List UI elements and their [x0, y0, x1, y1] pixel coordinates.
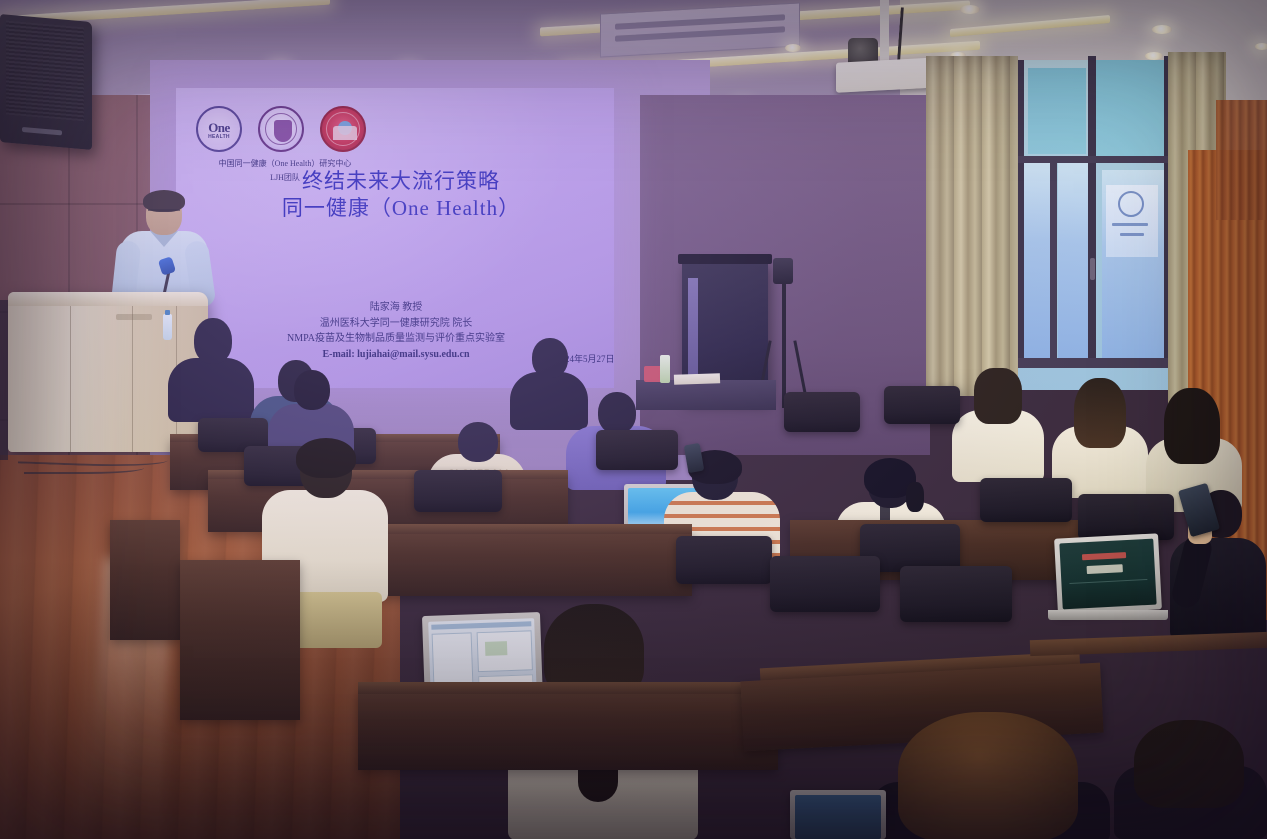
window-glass-upper	[1096, 60, 1170, 156]
wall-speaker	[0, 14, 92, 150]
water-bottle[interactable]	[660, 355, 670, 383]
tripod-camera	[773, 258, 793, 284]
attendee-cream-top	[952, 370, 1044, 482]
attendee-foreground-brown-hair	[870, 712, 1110, 839]
chair-back[interactable]	[770, 556, 880, 612]
ceiling-downlight	[960, 5, 980, 14]
wood-slat-wall-panel	[1216, 100, 1267, 220]
window-mullion	[1050, 162, 1057, 365]
ceiling-downlight	[1145, 52, 1163, 60]
window-glass-lower[interactable]	[1022, 162, 1052, 358]
laptop-dark-ui[interactable]	[1054, 533, 1162, 614]
attendee-silhouette-1	[168, 318, 254, 422]
one-health-logo-icon: One HEALTH	[196, 106, 242, 152]
slide-presenter-name: 陆家海 教授	[216, 300, 576, 316]
ponytail	[906, 482, 924, 512]
window-glass-upper	[1028, 68, 1086, 154]
sun-yat-sen-university-seal-icon	[320, 106, 366, 152]
window-frame	[1088, 56, 1096, 368]
window-curtain-left	[926, 56, 1018, 396]
window-sill	[1018, 358, 1171, 368]
chair-back[interactable]	[980, 478, 1072, 522]
window-frame	[1018, 60, 1024, 365]
slide-title-line2: 同一健康（One Health）	[236, 194, 566, 222]
glasses-icon	[148, 209, 180, 216]
chair-back[interactable]	[884, 386, 960, 424]
slide-title-line1: 终结未来大流行策略	[236, 168, 566, 194]
bench-desk-top	[358, 682, 778, 694]
bench-desk-side	[180, 560, 300, 720]
window-handle[interactable]	[1090, 258, 1095, 280]
one-health-logo-subtext: HEALTH	[198, 134, 240, 140]
ceiling-downlight	[785, 44, 801, 52]
window-glass-lower[interactable]	[1058, 162, 1090, 362]
floor-cable	[0, 300, 8, 460]
attendee-foreground-right	[1114, 726, 1267, 839]
slide-title: 终结未来大流行策略 同一健康（One Health）	[236, 168, 566, 223]
chair-back[interactable]	[900, 566, 1012, 622]
ceiling-projector	[836, 57, 940, 92]
bottle-cap	[165, 310, 170, 315]
lecture-hall-photo: One HEALTH 中国同一健康（One Health）研究中心 LJH团队 …	[0, 0, 1267, 839]
tripod-stand	[782, 268, 786, 408]
bench-desk-side	[110, 520, 180, 640]
floor-cable	[24, 462, 144, 474]
bench-desk-row4	[358, 690, 778, 770]
laptop-base	[1048, 610, 1168, 620]
ceiling-downlight	[1152, 25, 1172, 34]
slide-affiliation-1: 温州医科大学同一健康研究院 院长	[216, 316, 576, 332]
chair-back[interactable]	[784, 392, 860, 432]
ceiling-downlight	[1255, 43, 1267, 50]
chair-back[interactable]	[676, 536, 772, 584]
podium-logo-icon	[116, 314, 152, 320]
paper-sheet	[674, 373, 720, 385]
chair-back[interactable]	[1078, 494, 1174, 540]
window-poster	[1106, 185, 1158, 257]
laptop-screen	[1059, 539, 1156, 610]
laptop-screen	[795, 795, 881, 839]
laptop-bottom-right[interactable]	[790, 790, 886, 839]
window-mullion	[1018, 156, 1171, 163]
bench-desk-top-foreground	[1030, 632, 1267, 656]
chair-back[interactable]	[414, 470, 502, 512]
wenzhou-medical-university-seal-icon	[258, 106, 304, 152]
